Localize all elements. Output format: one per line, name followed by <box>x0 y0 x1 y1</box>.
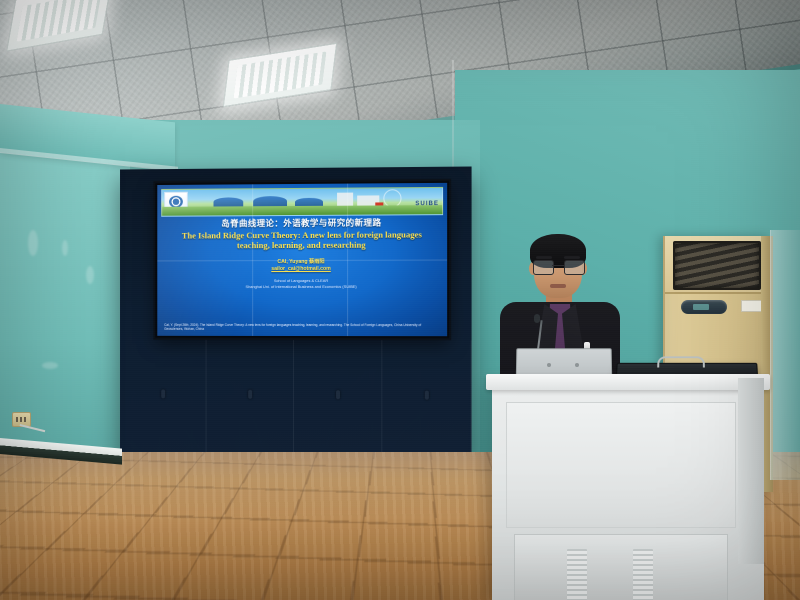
presenter-eyebrow <box>536 256 552 259</box>
cabinet-door[interactable] <box>207 340 294 458</box>
cabinet-door[interactable] <box>382 340 471 459</box>
presentation-slide: SUIBE 岛脊曲线理论：外语教学与研究的新理路 The Island Ridg… <box>157 183 447 336</box>
monitor-handle-icon <box>657 356 705 367</box>
slide-title-english: The Island Ridge Curve Theory: A new len… <box>161 229 443 251</box>
slide-author: CAI, Yuyang 蔡雨阳 <box>161 257 443 265</box>
glasses-lens <box>564 260 585 275</box>
ac-control-panel[interactable] <box>681 300 727 314</box>
lectern-side-panel <box>738 378 764 564</box>
lecture-hall-photo: SUIBE 岛脊曲线理论：外语教学与研究的新理路 The Island Ridg… <box>0 0 800 600</box>
cabinet-handle-icon[interactable] <box>336 390 340 399</box>
lectern-worktop <box>486 374 770 390</box>
lectern-base-panel <box>514 534 728 600</box>
glasses-lens <box>533 260 554 275</box>
slide-author-email[interactable]: sailor_cai@hotmail.com <box>161 266 443 273</box>
fluorescent-tube <box>233 52 327 99</box>
fluorescent-tube <box>16 0 102 42</box>
wall-mark <box>28 230 38 256</box>
lectern[interactable] <box>492 384 764 600</box>
laptop-lid-dot <box>575 363 579 367</box>
presenter-eyebrow <box>564 256 580 259</box>
ac-upper-housing <box>665 236 771 294</box>
lawn-strip <box>162 205 442 216</box>
slide-text-block: 岛脊曲线理论：外语教学与研究的新理路 The Island Ridge Curv… <box>161 215 443 332</box>
eyeglasses-icon <box>533 260 583 273</box>
wall-mark <box>42 362 58 369</box>
campus-block <box>337 193 353 207</box>
wall-mark <box>62 240 68 256</box>
ac-sticker-label <box>741 300 763 312</box>
microphone-capsule-icon <box>534 314 540 323</box>
campus-building <box>213 197 243 206</box>
cabinet-handle-icon[interactable] <box>424 390 428 399</box>
campus-building <box>295 198 323 206</box>
laptop-lid-dot <box>547 363 551 367</box>
slide-citation: Cai, Y. (Sept 26th, 2024). The Island Ri… <box>161 323 443 333</box>
campus-building <box>253 196 287 206</box>
cabinet-handle-icon[interactable] <box>248 389 252 398</box>
slide-affiliation-line-2: Shanghai Uni. of International Business … <box>161 283 443 289</box>
front-wall-unit: SUIBE 岛脊曲线理论：外语教学与研究的新理路 The Island Ridg… <box>120 167 472 460</box>
wall-mark <box>86 266 94 284</box>
lectern-vent-louver <box>633 549 653 600</box>
ac-grille-icon <box>673 241 761 290</box>
slide-title-chinese: 岛脊曲线理论：外语教学与研究的新理路 <box>161 216 443 229</box>
slide-banner-image: SUIBE <box>161 187 443 217</box>
presenter-mouth <box>550 284 566 288</box>
lectern-vent-louver <box>567 549 587 600</box>
cabinet-door[interactable] <box>120 340 207 458</box>
cabinet-handle-icon[interactable] <box>161 389 165 398</box>
glasses-bridge <box>552 265 564 266</box>
banner-wordmark: SUIBE <box>415 201 439 207</box>
lectern-front-panel <box>506 402 736 528</box>
window-glass-panel <box>770 230 800 480</box>
cabinet-door[interactable] <box>294 340 382 459</box>
storage-cabinets[interactable] <box>120 340 472 460</box>
led-video-wall[interactable]: SUIBE 岛脊曲线理论：外语教学与研究的新理路 The Island Ridg… <box>155 181 449 338</box>
